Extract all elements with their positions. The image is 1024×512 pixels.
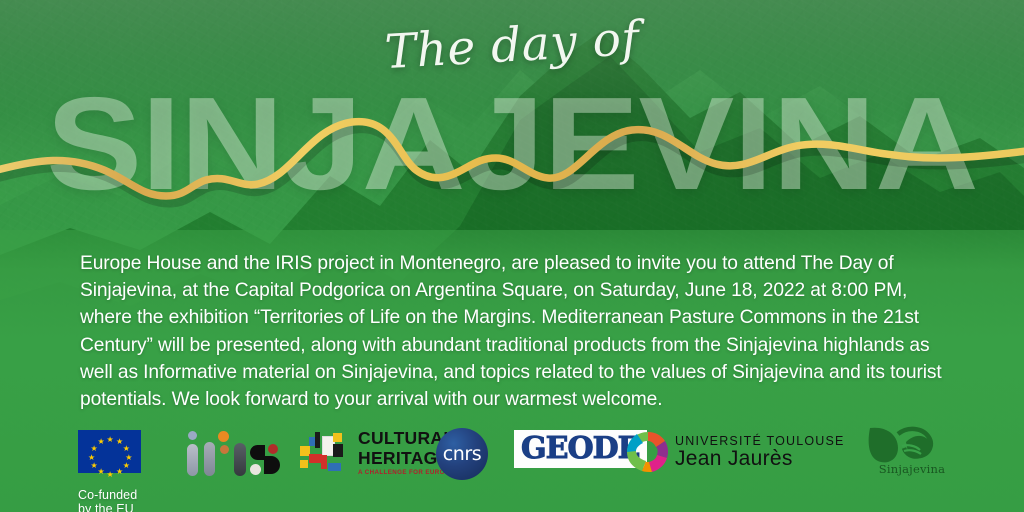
toulouse-swirl-icon: [624, 430, 670, 474]
iris-logo: [184, 428, 276, 478]
cultural-heritage-mark-icon: [300, 432, 352, 474]
cnrs-logo: cnrs: [436, 428, 488, 480]
eu-funding-caption: Co-funded by the EU: [78, 488, 141, 512]
geode-label: GEODE: [521, 431, 640, 466]
toulouse-line1: UNIVERSITÉ TOULOUSE: [675, 435, 845, 448]
universite-toulouse-jean-jaures-logo: UNIVERSITÉ TOULOUSE Jean Jaurès: [624, 430, 845, 474]
eu-logo-block: ★ ★ ★ ★ ★ ★ ★ ★ ★ ★ ★ ★ Co-funded by the…: [78, 430, 141, 473]
partner-logo-strip: ★ ★ ★ ★ ★ ★ ★ ★ ★ ★ ★ ★ Co-funded by the…: [78, 424, 978, 490]
poster-canvas: SINJAJEVINA The day of Europe House and …: [0, 0, 1024, 512]
gold-wave-line: [0, 100, 1024, 210]
toulouse-line2: Jean Jaurès: [675, 448, 845, 469]
european-union-flag-icon: ★ ★ ★ ★ ★ ★ ★ ★ ★ ★ ★ ★: [78, 430, 141, 473]
sinjajevina-label: Sinjajevina: [866, 462, 958, 476]
invitation-text: Europe House and the IRIS project in Mon…: [80, 250, 960, 413]
sinjajevina-logo: Sinjajevina: [862, 422, 954, 482]
cultural-heritage-logo: CULTURAL HERITAGE A CHALLENGE FOR EUROPE: [300, 430, 454, 476]
cnrs-label: cnrs: [443, 443, 482, 465]
